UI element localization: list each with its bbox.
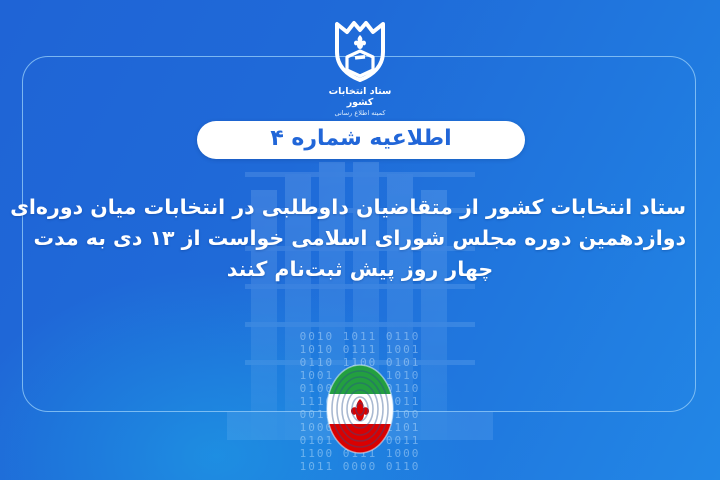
headline-line-1: ستاد انتخابات کشور از متقاضیان داوطلبی د…	[34, 192, 686, 223]
announcement-number-banner: اطلاعیه شماره ۴	[197, 121, 525, 159]
fingerprint-iran-flag-icon: الله اکبر الله اکبر الله اکبر الله اکبر	[312, 355, 408, 463]
headline-text: ستاد انتخابات کشور از متقاضیان داوطلبی د…	[34, 192, 686, 285]
elections-shield-ballot-icon	[315, 18, 405, 84]
headline-line-3: چهار روز پیش ثبت‌نام کنند	[34, 254, 686, 285]
headline-line-2: دوازدهمین دوره مجلس شورای اسلامی خواست ا…	[34, 223, 686, 254]
announcement-number-label: اطلاعیه شماره ۴	[270, 128, 451, 153]
logo-subtitle: کمیته اطلاع رسانی	[315, 109, 405, 117]
logo-title: ستاد انتخابات کشور	[315, 86, 405, 108]
svg-text:الله اکبر الله اکبر: الله اکبر الله اکبر	[312, 427, 325, 433]
organization-logo: ستاد انتخابات کشور کمیته اطلاع رسانی	[315, 18, 405, 117]
svg-text:الله اکبر الله اکبر: الله اکبر الله اکبر	[312, 388, 325, 394]
announcement-poster: 0110 1011 0010 1001 0111 1010 0101 1100 …	[0, 0, 720, 480]
